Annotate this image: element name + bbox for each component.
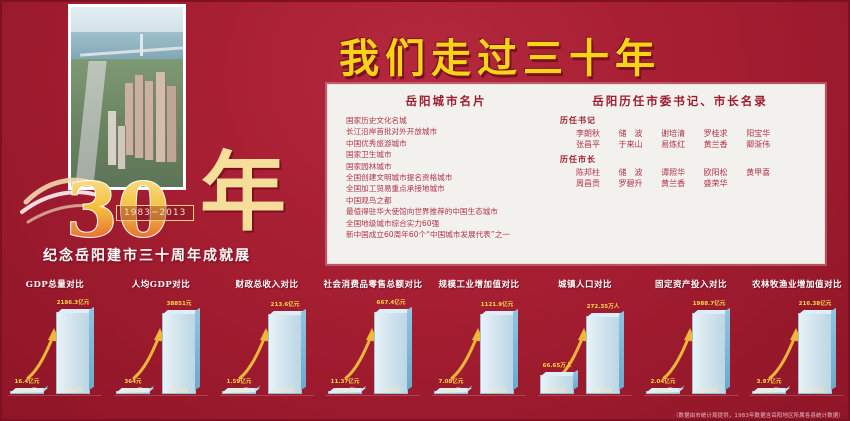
bar-group-2012年: 2186.3亿元2012年	[56, 312, 94, 394]
bar-value-label: 66.65万人	[531, 361, 583, 369]
bar-value-label: 1121.9亿元	[471, 300, 523, 308]
chart-plot: 364元1983年38851元2012年	[114, 296, 208, 408]
official-name: 李朗秋	[576, 128, 616, 139]
year-range-badge: 1983~2013	[116, 205, 194, 221]
bar-value-label: 11.37亿元	[319, 377, 371, 385]
chart-plot: 2.04亿元1983年1988.7亿元2012年	[644, 296, 738, 408]
x-axis-tick-label: 2012年	[365, 386, 417, 394]
official-name: 陈邦柱	[576, 167, 616, 178]
x-axis-tick-label: 2012年	[683, 386, 735, 394]
bar-value-label: 3.97亿元	[743, 377, 795, 385]
chart-8: 农林牧渔业增加值对比3.97亿元1983年216.38亿元2012年	[744, 272, 850, 412]
bar-value-label: 272.35万人	[577, 302, 629, 310]
poster-header: 30 1983~2013 年 纪念岳阳建市三十周年成就展 我们走过三十年 岳阳城…	[0, 0, 850, 272]
chart-4: 社会消费品零售总额对比11.37亿元1983年667.4亿元2012年	[320, 272, 426, 412]
bar-group-1983年: 3.97亿元1983年	[752, 391, 790, 394]
official-name: 周昌贡	[576, 178, 616, 189]
bar	[586, 316, 620, 394]
bar-group-2012年: 216.38亿元2012年	[798, 313, 836, 394]
chart-title: 城镇人口对比	[532, 278, 638, 290]
chart-baseline	[8, 395, 102, 396]
bar-group-2012年: 272.35万人2012年	[586, 316, 624, 394]
list-item: 中国优秀旅游城市	[346, 138, 554, 149]
x-axis-tick-label: 2012年	[577, 386, 629, 394]
chart-2: 人均GDP对比364元1983年38851元2012年	[108, 272, 214, 412]
anniversary-30-logo: 30	[8, 140, 218, 250]
chart-7: 固定资产投入对比2.04亿元1983年1988.7亿元2012年	[638, 272, 744, 412]
chart-baseline	[750, 395, 844, 396]
official-name: 于来山	[619, 139, 659, 150]
secretaries-row: 李朗秋 储 波 谢培清 罗桂求 阳宝华	[576, 128, 814, 139]
list-item: 全国加工贸易重点承接地城市	[346, 183, 554, 194]
bar-group-1983年: 7.08亿元1983年	[434, 391, 472, 394]
exhibit-subtitle: 纪念岳阳建市三十周年成就展	[22, 245, 272, 265]
officials-column: 岳阳历任市委书记、市长名录 历任书记 李朗秋 储 波 谢培清 罗桂求 阳宝华 张…	[546, 93, 814, 189]
chart-title: GDP总量对比	[2, 278, 108, 290]
logo-30-svg: 30	[8, 140, 218, 250]
list-item: 国家卫生城市	[346, 149, 554, 160]
mayors-row: 周昌贡 罗碧升 黄兰香 盛荣华	[576, 178, 814, 189]
bar-group-2012年: 1988.7亿元2012年	[692, 313, 730, 394]
official-name: 张昌平	[576, 139, 616, 150]
chart-title: 规模工业增加值对比	[426, 278, 532, 290]
official-name: 阳宝华	[746, 128, 786, 139]
secretaries-row: 张昌平 于来山 易炼红 黄兰香 卿渐伟	[576, 139, 814, 150]
official-name: 谭照华	[661, 167, 701, 178]
bar-value-label: 2186.3亿元	[47, 298, 99, 306]
bar-group-2012年: 667.4亿元2012年	[374, 312, 412, 394]
chart-baseline	[220, 395, 314, 396]
bar-value-label: 1988.7亿元	[683, 299, 735, 307]
list-item: 长江沿岸首批对外开放城市	[346, 126, 554, 137]
x-axis-tick-label: 1983年	[743, 386, 795, 394]
chart-plot: 1.59亿元1983年213.6亿元2012年	[220, 296, 314, 408]
official-name: 罗桂求	[704, 128, 744, 139]
official-name: 易炼红	[661, 139, 701, 150]
x-axis-tick-label: 1983年	[1, 386, 53, 394]
bar-value-label: 1.59亿元	[213, 377, 265, 385]
bar-value-label: 213.6亿元	[259, 300, 311, 308]
official-name: 黄兰香	[704, 139, 744, 150]
bar-value-label: 38851元	[153, 299, 205, 307]
chart-3: 财政总收入对比1.59亿元1983年213.6亿元2012年	[214, 272, 320, 412]
data-source-footnote: （数据由市统计局提供，1983年数据含岳阳地区所属各县统计数据）	[673, 411, 844, 419]
official-name: 罗碧升	[619, 178, 659, 189]
chart-title: 固定资产投入对比	[638, 278, 744, 290]
chart-1: GDP总量对比16.4亿元1983年2186.3亿元2012年	[2, 272, 108, 412]
x-axis-tick-label: 2012年	[259, 386, 311, 394]
list-item: 最值得驻华大使馆向世界推荐的中国生态城市	[346, 206, 554, 217]
official-name: 黄甲喜	[746, 167, 786, 178]
x-axis-tick-label: 1983年	[425, 386, 477, 394]
list-item: 全国地级城市综合实力60强	[346, 218, 554, 229]
secretaries-label: 历任书记	[560, 115, 814, 126]
bar-value-label: 16.4亿元	[1, 377, 53, 385]
x-axis-tick-label: 1983年	[531, 386, 583, 394]
list-item: 全国创建文明城市提名资格城市	[346, 172, 554, 183]
bar	[798, 313, 832, 394]
officials-heading: 岳阳历任市委书记、市长名录	[546, 93, 814, 109]
charts-strip: GDP总量对比16.4亿元1983年2186.3亿元2012年人均GDP对比36…	[0, 272, 850, 421]
chart-title: 农林牧渔业增加值对比	[744, 278, 850, 290]
bar-value-label: 667.4亿元	[365, 298, 417, 306]
bar-group-1983年: 11.37亿元1983年	[328, 391, 366, 394]
bar-group-1983年: 66.65万人1983年	[540, 375, 578, 394]
chart-baseline	[432, 395, 526, 396]
bar	[268, 314, 302, 394]
city-card-heading: 岳阳城市名片	[338, 93, 554, 109]
bar-value-label: 7.08亿元	[425, 377, 477, 385]
bar-group-1983年: 364元1983年	[116, 391, 154, 394]
chart-plot: 66.65万人1983年272.35万人2012年	[538, 296, 632, 408]
bar	[56, 312, 90, 394]
official-name: 欧阳松	[704, 167, 744, 178]
x-axis-tick-label: 2012年	[471, 386, 523, 394]
official-name: 黄兰香	[661, 178, 701, 189]
official-name: 储 波	[619, 128, 659, 139]
x-axis-tick-label: 2012年	[789, 386, 841, 394]
x-axis-tick-label: 1983年	[319, 386, 371, 394]
bar-value-label: 216.38亿元	[789, 299, 841, 307]
bar-group-1983年: 1.59亿元1983年	[222, 391, 260, 394]
page-title: 我们走过三十年	[300, 26, 700, 84]
list-item: 中国观鸟之都	[346, 195, 554, 206]
mayors-row: 陈邦柱 储 波 谭照华 欧阳松 黄甲喜	[576, 167, 814, 178]
official-name: 储 波	[619, 167, 659, 178]
list-item: 国家园林城市	[346, 161, 554, 172]
chart-6: 城镇人口对比66.65万人1983年272.35万人2012年	[532, 272, 638, 412]
chart-baseline	[114, 395, 208, 396]
poster-root: 30 1983~2013 年 纪念岳阳建市三十周年成就展 我们走过三十年 岳阳城…	[0, 0, 850, 421]
bar-group-2012年: 213.6亿元2012年	[268, 314, 306, 394]
bar	[374, 312, 408, 394]
chart-title: 人均GDP对比	[108, 278, 214, 290]
mayors-label: 历任市长	[560, 154, 814, 165]
bar	[162, 313, 196, 394]
chart-title: 社会消费品零售总额对比	[320, 278, 426, 290]
bar-value-label: 364元	[107, 377, 159, 385]
x-axis-tick-label: 1983年	[213, 386, 265, 394]
official-name: 谢培清	[661, 128, 701, 139]
list-item: 国家历史文化名城	[346, 115, 554, 126]
x-axis-tick-label: 2012年	[153, 386, 205, 394]
chart-title: 财政总收入对比	[214, 278, 320, 290]
bar-group-2012年: 38851元2012年	[162, 313, 200, 394]
bar	[692, 313, 726, 394]
bar-group-1983年: 2.04亿元1983年	[646, 391, 684, 394]
official-name: 盛荣华	[704, 178, 744, 189]
info-panel: 岳阳城市名片 国家历史文化名城 长江沿岸首批对外开放城市 中国优秀旅游城市 国家…	[327, 84, 825, 264]
bar-group-1983年: 16.4亿元1983年	[10, 391, 48, 394]
bar-group-2012年: 1121.9亿元2012年	[480, 314, 518, 394]
x-axis-tick-label: 1983年	[637, 386, 689, 394]
chart-5: 规模工业增加值对比7.08亿元1983年1121.9亿元2012年	[426, 272, 532, 412]
chart-baseline	[644, 395, 738, 396]
chart-plot: 7.08亿元1983年1121.9亿元2012年	[432, 296, 526, 408]
official-name: 卿渐伟	[746, 139, 786, 150]
city-card-column: 岳阳城市名片 国家历史文化名城 长江沿岸首批对外开放城市 中国优秀旅游城市 国家…	[338, 93, 554, 240]
bar	[480, 314, 514, 394]
x-axis-tick-label: 1983年	[107, 386, 159, 394]
x-axis-tick-label: 2012年	[47, 386, 99, 394]
nian-character: 年	[200, 150, 286, 236]
bar-value-label: 2.04亿元	[637, 377, 689, 385]
photo-bridge-pylon	[140, 34, 143, 56]
list-item: 新中国成立60周年60个“中国城市发展代表”之一	[346, 229, 554, 240]
chart-plot: 16.4亿元1983年2186.3亿元2012年	[8, 296, 102, 408]
chart-plot: 3.97亿元1983年216.38亿元2012年	[750, 296, 844, 408]
chart-baseline	[326, 395, 420, 396]
chart-baseline	[538, 395, 632, 396]
chart-plot: 11.37亿元1983年667.4亿元2012年	[326, 296, 420, 408]
city-card-list: 国家历史文化名城 长江沿岸首批对外开放城市 中国优秀旅游城市 国家卫生城市 国家…	[338, 115, 554, 240]
